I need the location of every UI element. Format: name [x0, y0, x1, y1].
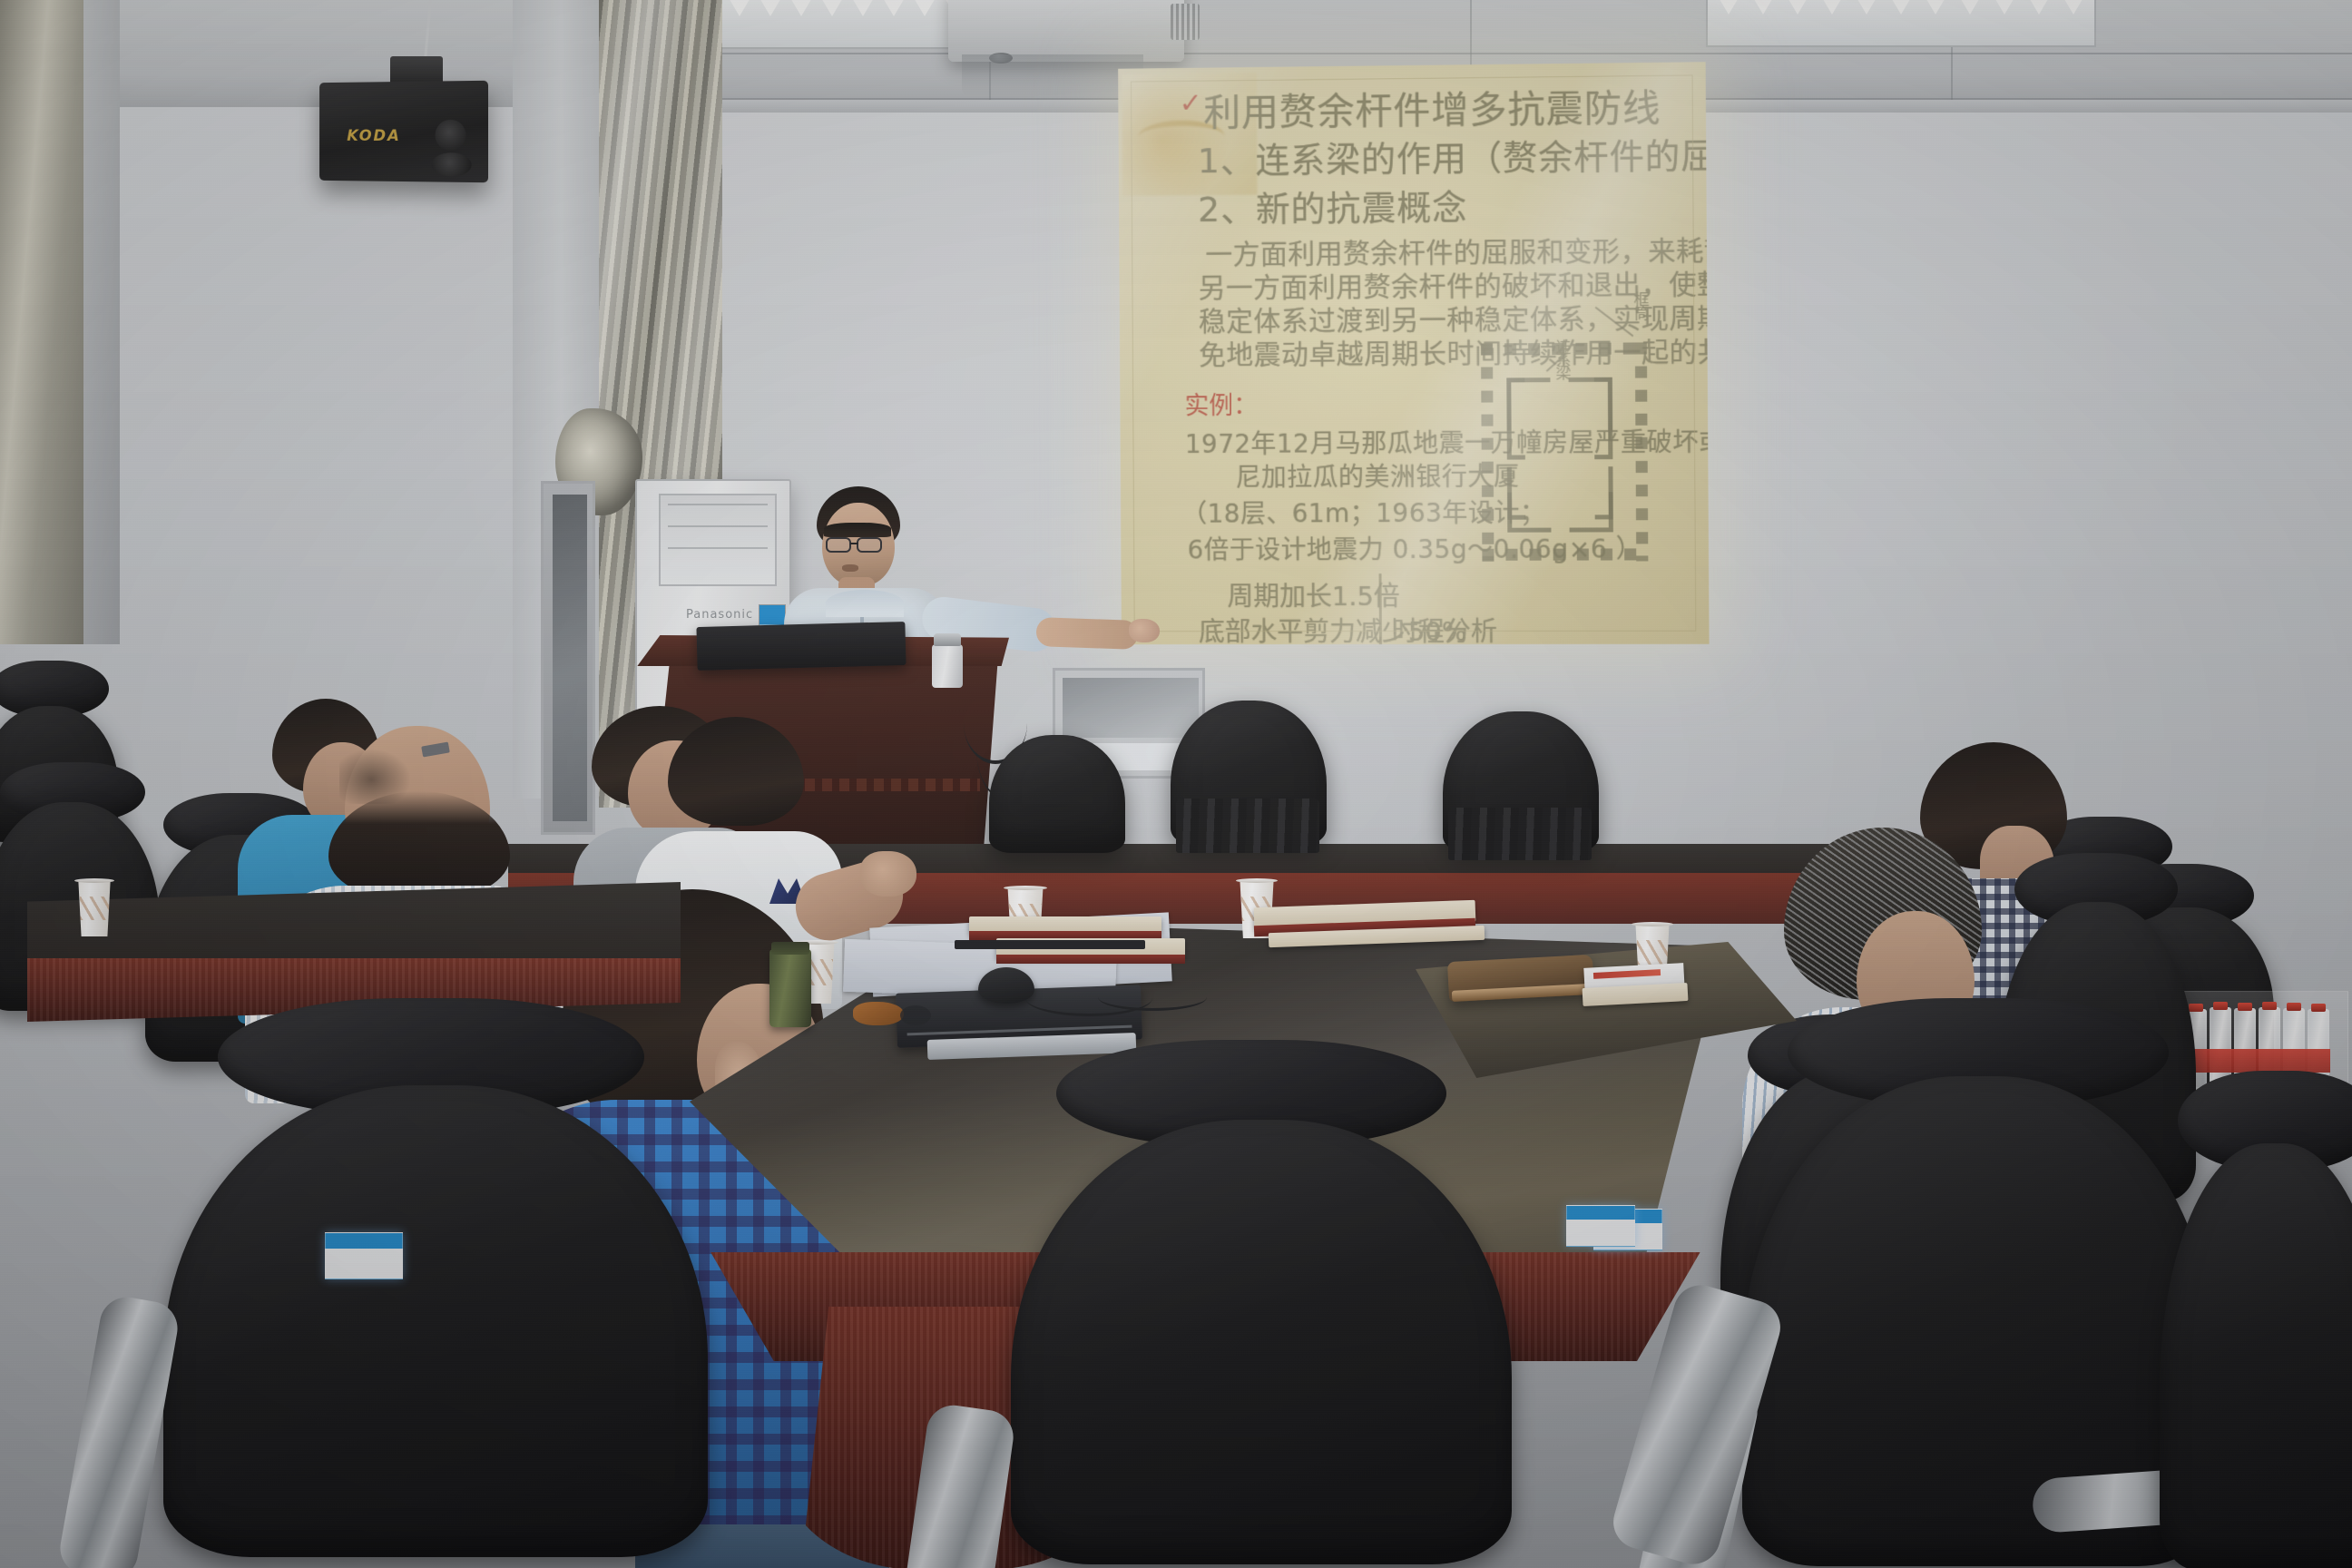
presenter-pointing-hand: [1129, 619, 1160, 642]
thermos-flask: [769, 949, 811, 1027]
empty-chair[interactable]: [1171, 691, 1334, 873]
ceiling-light-panel: [1706, 0, 2096, 47]
curtain-rod-edge: [83, 0, 120, 644]
pen: [955, 940, 1145, 949]
chair-asset-tag: [1566, 1205, 1635, 1247]
presenter-mouth: [842, 564, 858, 572]
presenter-fringe: [824, 523, 891, 537]
projector-icon: [948, 0, 1184, 62]
keychain: [853, 1002, 904, 1025]
audience-hair: [668, 717, 804, 826]
foreground-chair-left[interactable]: [163, 998, 717, 1568]
audience-thin-hair: [339, 750, 410, 804]
podium-bottle-cap: [934, 633, 961, 646]
glasses-bridge: [850, 543, 858, 544]
foreground-chair-far-right[interactable]: [2160, 1071, 2352, 1568]
ceiling-grid-line: [635, 53, 2352, 54]
podium-laptop[interactable]: [696, 622, 906, 671]
paper-cup-rim: [1236, 878, 1278, 883]
paper-cup-rim: [1004, 886, 1047, 890]
foreground-chair-center[interactable]: [1011, 1040, 1519, 1568]
mouse-cable-2: [1098, 984, 1207, 1011]
paper-cup-rim: [1632, 922, 1673, 926]
glasses-lens-right: [857, 537, 882, 553]
projector-vent: [1171, 4, 1200, 40]
wall-speaker: KODA: [319, 81, 488, 182]
projector-shadow: [962, 54, 1143, 96]
paper-cup: [76, 882, 113, 936]
empty-chair[interactable]: [989, 708, 1134, 871]
ceiling-light-panel: [690, 0, 989, 49]
foreground-chair-right[interactable]: [1706, 998, 2214, 1568]
speaker-tweeter-icon: [436, 120, 466, 152]
window-curtain-left: [0, 0, 83, 644]
keyring-icon: [900, 1005, 931, 1025]
speaker-woofer-icon: [432, 152, 472, 177]
notebook-spine: [996, 955, 1185, 964]
chair-asset-tag: [325, 1232, 403, 1279]
paper-cup-rim: [74, 878, 114, 883]
presenter-collar: [826, 590, 904, 617]
speaker-brand-label: KODA: [347, 127, 401, 145]
projection-screen: ✓ 利用赘余杆件增多抗震防线 1、连系梁的作用（赘余杆件的屈服及变形） 2、新的…: [1118, 62, 1709, 644]
conference-room-photo: KODA ✓ 利用赘余杆件增多抗震防线 1、连系梁的作用（赘余杆件的屈服及变形）…: [0, 0, 2352, 1568]
empty-chair[interactable]: [1443, 699, 1606, 880]
glasses-lens-left: [826, 537, 851, 553]
screen-inner-border: [1131, 74, 1696, 632]
ac-air-grille: [659, 494, 777, 586]
thermos-cap: [771, 942, 809, 955]
podium-bottle: [932, 644, 963, 688]
presenter-forearm: [1035, 617, 1138, 650]
ac-brand-label: Panasonic: [686, 608, 753, 622]
